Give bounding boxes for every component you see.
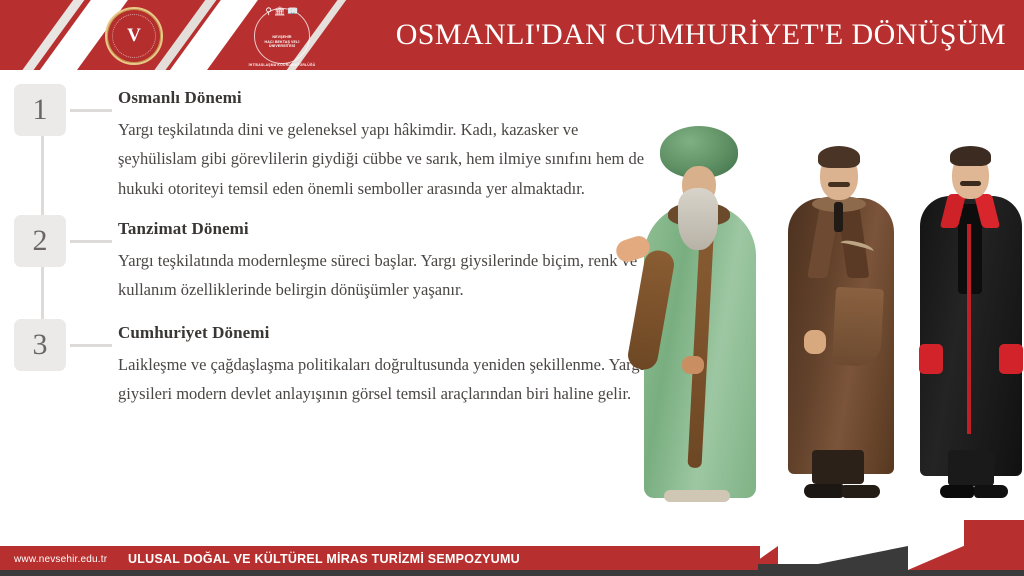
shoes — [664, 490, 730, 502]
trousers — [812, 450, 864, 484]
figure-tanzimat-official — [786, 146, 896, 498]
right-shoe — [842, 485, 880, 498]
left-red-cuff — [919, 344, 943, 374]
flask-icon: ⚲ — [265, 7, 272, 16]
footer-website-url[interactable]: www.nevsehir.edu.tr — [14, 554, 107, 565]
right-red-cuff — [999, 344, 1023, 374]
step-connector-line — [70, 344, 112, 347]
page-title: OSMANLI'DAN CUMHURİYET'E DÖNÜŞÜM — [396, 18, 1006, 52]
coat-drape — [832, 287, 884, 367]
university-seal-logo: V — [105, 7, 163, 65]
timeline-step: 2 Tanzimat Dönemi Yargı teşkilatında mod… — [14, 219, 654, 305]
trousers — [948, 450, 994, 486]
necktie — [834, 202, 843, 232]
step-number-badge: 3 — [14, 319, 66, 371]
left-shoe — [804, 484, 844, 498]
timeline-step: 1 Osmanlı Dönemi Yargı teşkilatında dini… — [14, 88, 654, 203]
footer-bottom-strip — [0, 570, 1024, 576]
main-content: 1 Osmanlı Dönemi Yargı teşkilatında dini… — [0, 70, 1024, 540]
step-body: Laikleşme ve çağdaşlaşma politikaları do… — [118, 350, 654, 409]
footer-event-title: ULUSAL DOĞAL VE KÜLTÜREL MİRAS TURİZMİ S… — [128, 552, 520, 566]
step-body: Yargı teşkilatında dini ve geleneksel ya… — [118, 115, 654, 203]
seal-monogram: V — [112, 14, 156, 58]
step-number-badge: 1 — [14, 84, 66, 136]
header-diagonal-stripe — [161, 0, 262, 70]
resting-hand — [682, 356, 704, 374]
white-beard — [678, 188, 718, 250]
step-title: Cumhuriyet Dönemi — [118, 323, 654, 343]
logo-ring-text: İHTİSASLAŞMA KOORDİNATÖRLÜĞÜ — [248, 63, 316, 67]
logo-icon-row: ⚲ 🏛 📖 — [248, 7, 316, 16]
left-shoe — [940, 485, 974, 498]
timeline-step: 3 Cumhuriyet Dönemi Laikleşme ve çağdaşl… — [14, 323, 654, 409]
building-icon: 🏛 — [274, 7, 285, 16]
timeline: 1 Osmanlı Dönemi Yargı teşkilatında dini… — [14, 88, 654, 415]
ihtisaslasma-koordinatorlugu-logo: ⚲ 🏛 📖 NEVŞEHİR HACI BEKTAŞ VELİ ÜNİVERSİ… — [248, 2, 316, 70]
step-number-badge: 2 — [14, 215, 66, 267]
red-placket — [967, 224, 971, 434]
mustache — [828, 182, 850, 187]
figure-republic-judge — [920, 146, 1022, 498]
logo-inner-text: NEVŞEHİR HACI BEKTAŞ VELİ ÜNİVERSİTESİ — [265, 35, 300, 50]
footer-red-angle — [894, 520, 1024, 576]
judicial-attire-illustration — [638, 98, 1018, 498]
step-connector-line — [70, 240, 112, 243]
page-header: V ⚲ 🏛 📖 NEVŞEHİR HACI BEKTAŞ VELİ ÜNİVER… — [0, 0, 1024, 70]
hair — [818, 146, 860, 168]
hand — [804, 330, 826, 354]
step-connector-line — [70, 109, 112, 112]
step-title: Osmanlı Dönemi — [118, 88, 654, 108]
book-icon: 📖 — [287, 7, 298, 16]
mustache — [960, 181, 981, 186]
figure-ottoman-scholar — [642, 126, 762, 498]
logo-line-3: ÜNİVERSİTESİ — [265, 44, 300, 49]
page-footer: www.nevsehir.edu.tr ULUSAL DOĞAL VE KÜLT… — [0, 540, 1024, 576]
step-title: Tanzimat Dönemi — [118, 219, 654, 239]
hair — [950, 146, 991, 166]
right-shoe — [974, 485, 1008, 498]
step-body: Yargı teşkilatında modernleşme süreci ba… — [118, 246, 654, 305]
